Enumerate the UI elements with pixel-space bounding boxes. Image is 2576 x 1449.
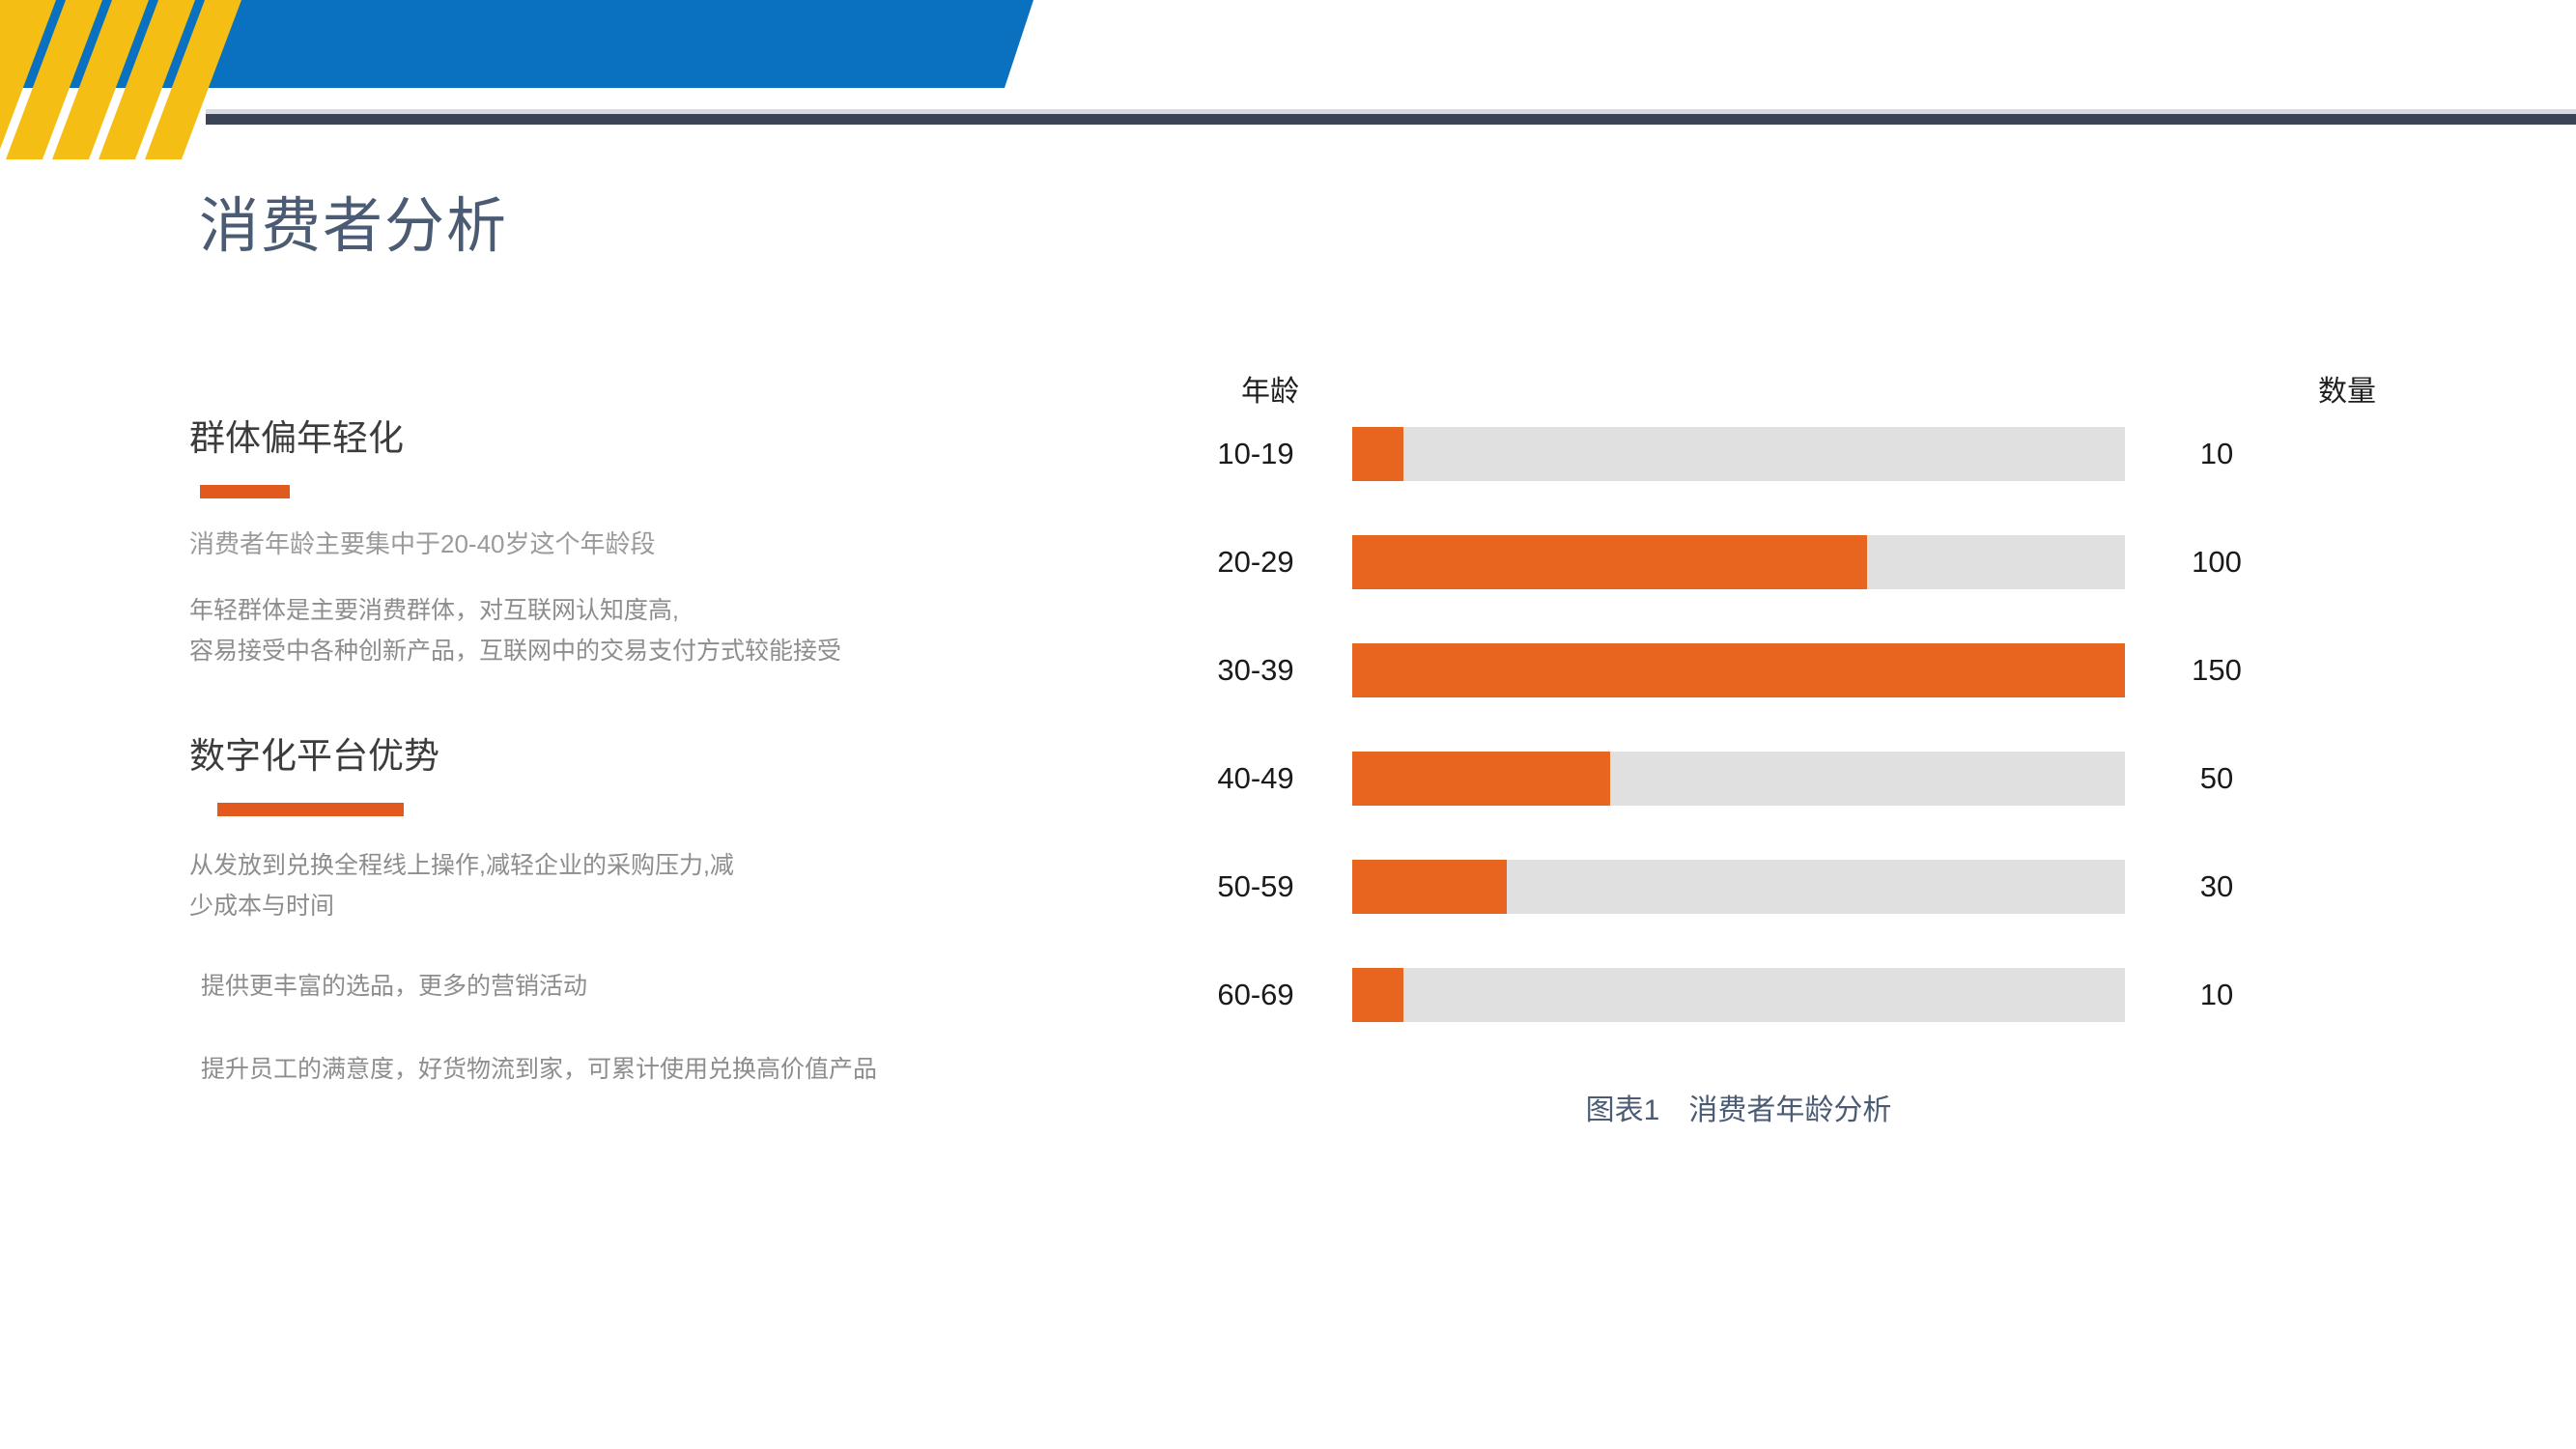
bar-value: 30 bbox=[2125, 869, 2308, 904]
bar-value: 50 bbox=[2125, 761, 2308, 796]
bar-label: 60-69 bbox=[1159, 978, 1352, 1012]
bar-label: 40-49 bbox=[1159, 761, 1352, 796]
bar-fill bbox=[1352, 427, 1403, 481]
age-distribution-chart: 年龄 数量 10-19 10 20-29 100 30-39 150 40-49 bbox=[1159, 367, 2511, 1128]
bar-value: 150 bbox=[2125, 653, 2308, 688]
corner-decoration bbox=[0, 0, 1159, 159]
chart-header-count: 数量 bbox=[2289, 367, 2405, 410]
table-row: 20-29 100 bbox=[1159, 535, 2511, 589]
table-row: 30-39 150 bbox=[1159, 643, 2511, 697]
bar-track bbox=[1352, 427, 2125, 481]
section-body-2-line-2: 少成本与时间 bbox=[189, 886, 1136, 926]
section-heading-1: 群体偏年轻化 bbox=[189, 415, 1136, 462]
bullet-line-2: 提升员工的满意度，好货物流到家，可累计使用兑换高价值产品 bbox=[201, 1052, 1136, 1087]
chart-header-row: 年龄 数量 bbox=[1159, 367, 2511, 427]
bar-fill bbox=[1352, 860, 1507, 914]
bar-track bbox=[1352, 643, 2125, 697]
section-body-2: 从发放到兑换全程线上操作,减轻企业的采购压力,减 少成本与时间 bbox=[189, 845, 1136, 926]
section-spacer bbox=[189, 671, 1136, 733]
bar-track bbox=[1352, 860, 2125, 914]
table-row: 10-19 10 bbox=[1159, 427, 2511, 481]
bar-fill bbox=[1352, 752, 1610, 806]
chart-caption: 图表1 消费者年龄分析 bbox=[1352, 1086, 2125, 1128]
accent-bar-2 bbox=[217, 803, 404, 816]
bar-track bbox=[1352, 535, 2125, 589]
bar-fill bbox=[1352, 643, 2125, 697]
header-rule bbox=[206, 114, 2576, 125]
chart-bars: 10-19 10 20-29 100 30-39 150 40-49 bbox=[1159, 427, 2511, 1022]
section-group-younger: 群体偏年轻化 消费者年龄主要集中于20-40岁这个年龄段 年轻群体是主要消费群体… bbox=[189, 415, 1136, 671]
bar-label: 50-59 bbox=[1159, 869, 1352, 904]
section-body-1: 年轻群体是主要消费群体，对互联网认知度高, 容易接受中各种创新产品，互联网中的交… bbox=[189, 590, 1136, 671]
left-content-column: 群体偏年轻化 消费者年龄主要集中于20-40岁这个年龄段 年轻群体是主要消费群体… bbox=[189, 415, 1136, 1087]
table-row: 60-69 10 bbox=[1159, 968, 2511, 1022]
bar-value: 10 bbox=[2125, 978, 2308, 1012]
bar-value: 10 bbox=[2125, 437, 2308, 471]
section-body-1-line-1: 年轻群体是主要消费群体，对互联网认知度高, bbox=[189, 590, 1136, 631]
bullet-line-1: 提供更丰富的选品，更多的营销活动 bbox=[201, 969, 1136, 1004]
page-title: 消费者分析 bbox=[199, 189, 508, 265]
section-group-digital: 数字化平台优势 从发放到兑换全程线上操作,减轻企业的采购压力,减 少成本与时间 … bbox=[189, 733, 1136, 1087]
bar-label: 30-39 bbox=[1159, 653, 1352, 688]
bar-label: 10-19 bbox=[1159, 437, 1352, 471]
accent-bar-1 bbox=[200, 485, 290, 498]
corner-decoration-svg bbox=[0, 0, 1159, 159]
bar-track bbox=[1352, 968, 2125, 1022]
bar-fill bbox=[1352, 968, 1403, 1022]
table-row: 40-49 50 bbox=[1159, 752, 2511, 806]
section-lead-1: 消费者年龄主要集中于20-40岁这个年龄段 bbox=[189, 526, 1136, 561]
section-body-2-line-1: 从发放到兑换全程线上操作,减轻企业的采购压力,减 bbox=[189, 845, 1136, 886]
bar-label: 20-29 bbox=[1159, 545, 1352, 580]
bar-fill bbox=[1352, 535, 1867, 589]
bar-value: 100 bbox=[2125, 545, 2308, 580]
table-row: 50-59 30 bbox=[1159, 860, 2511, 914]
chart-header-age: 年龄 bbox=[1188, 367, 1352, 410]
bar-track bbox=[1352, 752, 2125, 806]
section-heading-2: 数字化平台优势 bbox=[189, 733, 1136, 780]
section-body-1-line-2: 容易接受中各种创新产品，互联网中的交易支付方式较能接受 bbox=[189, 631, 1136, 671]
